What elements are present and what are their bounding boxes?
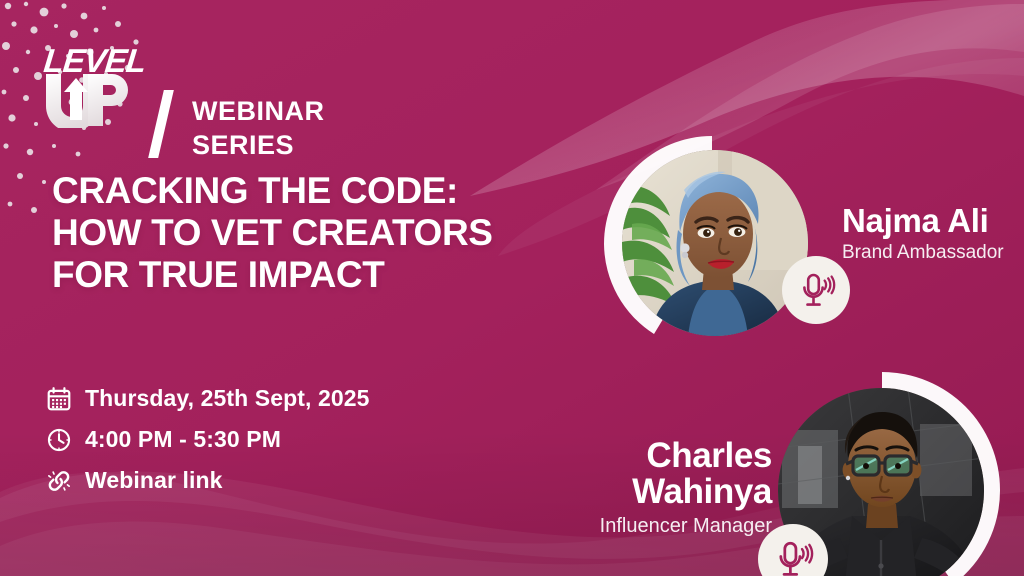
series-line: SERIES	[192, 128, 325, 162]
headline-line-2: HOW TO VET CREATORS	[52, 212, 493, 254]
page-title: CRACKING THE CODE: HOW TO VET CREATORS F…	[52, 170, 493, 295]
speaker-photo-najma-ali	[622, 150, 808, 336]
webinar-link-row[interactable]: Webinar link	[46, 467, 370, 494]
speaker-role: Influencer Manager	[560, 514, 772, 538]
clock-icon	[46, 427, 72, 453]
link-icon	[46, 468, 72, 494]
webinar-series-label: WEBINAR SERIES	[192, 94, 325, 162]
event-details-list: Thursday, 25th Sept, 2025 4:00 PM - 5:30…	[46, 385, 370, 494]
logo-up-with-arrow	[42, 72, 142, 128]
brand-logo: LEVEL WEBINAR SERIES	[44, 44, 144, 124]
speaker-role: Brand Ambassador	[842, 242, 1004, 265]
speaker-name: Najma Ali	[842, 204, 1004, 238]
speaker-card-najma-ali: Najma Ali Brand Ambassador	[596, 128, 1024, 360]
speaker-name-line-1: Charles	[560, 438, 772, 474]
speaker-info-charles-wahinya: Charles Wahinya Influencer Manager	[560, 438, 772, 538]
speaker-mic-badge	[782, 256, 850, 324]
calendar-icon	[46, 386, 72, 412]
level-up-logomark: LEVEL	[44, 44, 144, 124]
speaker-info-najma-ali: Najma Ali Brand Ambassador	[842, 204, 1004, 264]
speaker-card-charles-wahinya: Charles Wahinya Influencer Manager	[560, 360, 1024, 576]
microphone-icon	[796, 270, 836, 310]
webinar-link-text[interactable]: Webinar link	[85, 467, 223, 494]
event-date-text: Thursday, 25th Sept, 2025	[85, 385, 370, 412]
speaker-name-line-2: Wahinya	[560, 474, 772, 510]
event-time-text: 4:00 PM - 5:30 PM	[85, 426, 281, 453]
headline-line-3: FOR TRUE IMPACT	[52, 254, 493, 296]
headline-line-1: CRACKING THE CODE:	[52, 170, 493, 212]
event-date-row: Thursday, 25th Sept, 2025	[46, 385, 370, 412]
webinar-line: WEBINAR	[192, 94, 325, 128]
microphone-icon	[772, 538, 814, 576]
webinar-promo-banner: LEVEL WEBINAR SERIES	[0, 0, 1024, 576]
event-time-row: 4:00 PM - 5:30 PM	[46, 426, 370, 453]
